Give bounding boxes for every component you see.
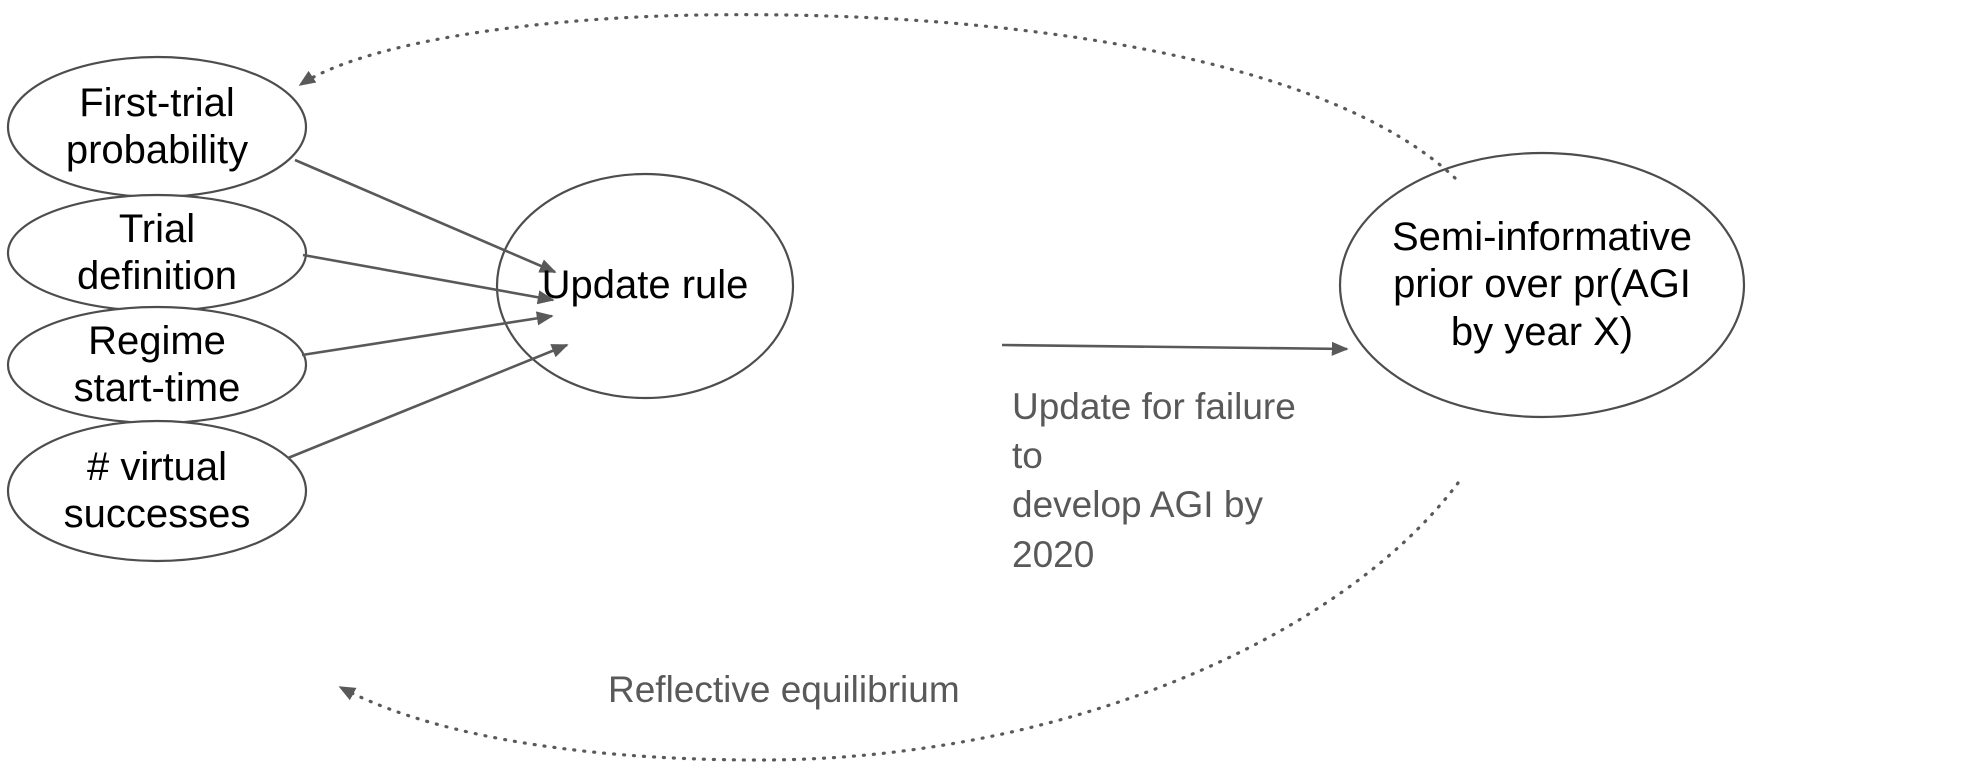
edge-update-rule-to-semi-informative-prior[interactable]	[1002, 345, 1347, 349]
edge-group-dotted	[300, 15, 1458, 760]
edge-first-trial-probability-to-update-rule[interactable]	[295, 160, 555, 272]
node-ellipse-virtual-successes[interactable]	[8, 421, 306, 561]
node-ellipse-update-rule[interactable]	[497, 174, 793, 398]
edge-semi-informative-prior-to-first-trial-probability[interactable]	[300, 15, 1455, 178]
node-ellipse-semi-informative-prior[interactable]	[1340, 153, 1744, 417]
node-ellipse-trial-definition[interactable]	[8, 195, 306, 311]
diagram-svg	[0, 0, 1976, 768]
diagram-canvas: First-trial probability Trial definition…	[0, 0, 1976, 768]
edge-group-update	[1002, 345, 1347, 349]
edge-semi-informative-prior-to-virtual-successes[interactable]	[340, 483, 1458, 760]
edge-virtual-successes-to-update-rule[interactable]	[288, 345, 567, 458]
node-ellipse-regime-start-time[interactable]	[8, 307, 306, 423]
node-ellipse-group	[8, 57, 1744, 561]
node-ellipse-first-trial-probability[interactable]	[8, 57, 306, 197]
